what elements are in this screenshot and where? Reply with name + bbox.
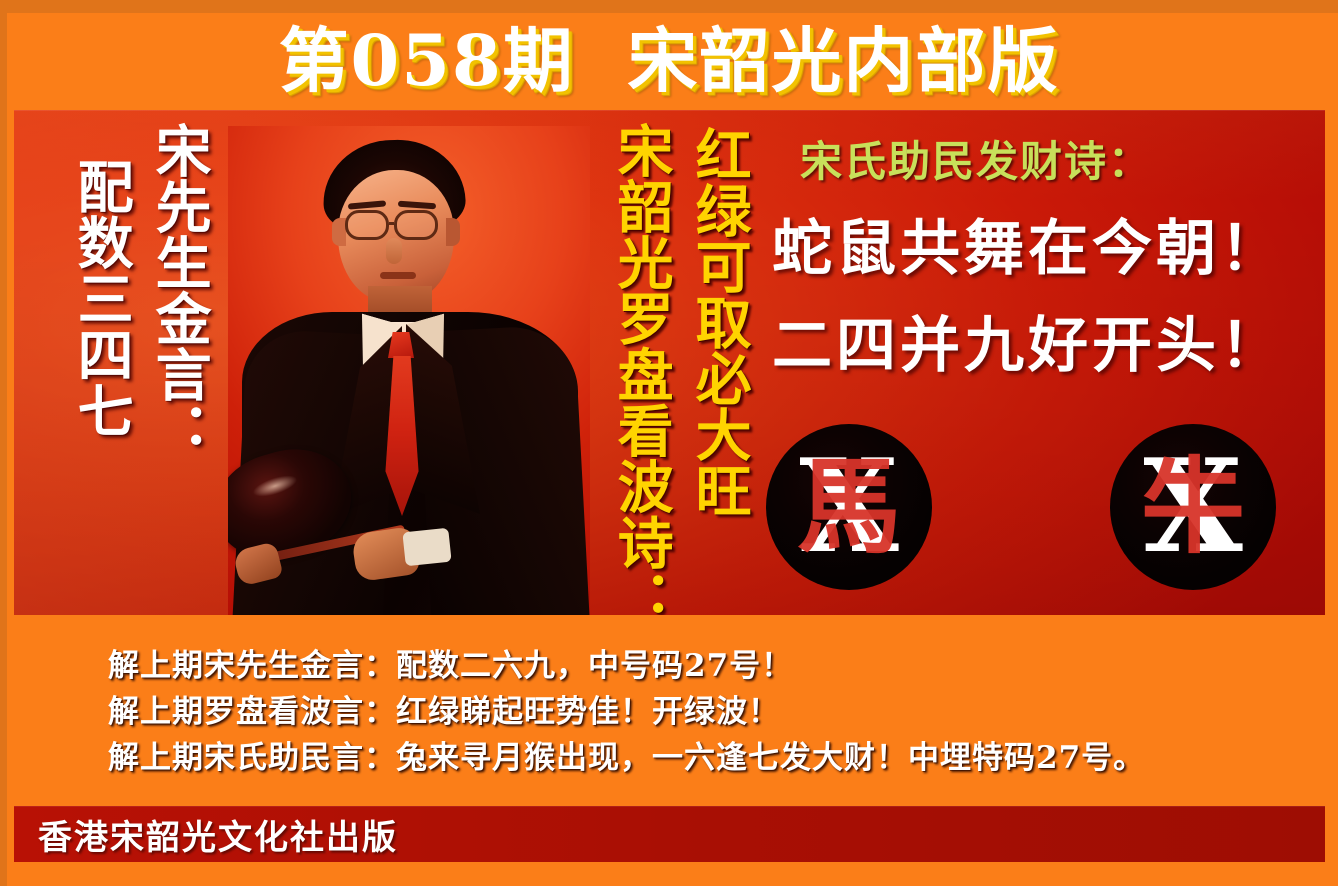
poem-heading: 宋氏助民发财诗： bbox=[800, 128, 1152, 189]
zodiac-front-glyph-horse: 馬 bbox=[766, 455, 932, 559]
notes-section: 解上期宋先生金言：配数二六九，中号码27号！ 解上期罗盘看波言：红绿睇起旺势佳！… bbox=[0, 624, 1338, 796]
ear-right bbox=[446, 218, 460, 246]
vertical-text-luopan-kanbo-shi: 宋韶光罗盘看波诗： bbox=[612, 122, 669, 615]
note-line-3: 解上期宋氏助民言：兔来寻月猴出现，一六逢七发大财！中埋特码27号。 bbox=[108, 732, 1145, 777]
issue-title: 第058期 宋韶光内部版 bbox=[279, 26, 1060, 96]
note-line-2: 解上期罗盘看波言：红绿睇起旺势佳！开绿波！ bbox=[108, 686, 780, 731]
master-photo bbox=[228, 126, 590, 615]
glasses-bridge bbox=[389, 222, 394, 225]
zodiac-badge-ox: X 牛 bbox=[1110, 424, 1276, 590]
vertical-text-peishu: 配数三四七 bbox=[72, 158, 129, 438]
glasses-right-lens bbox=[394, 210, 438, 240]
glasses-left-lens bbox=[345, 210, 389, 240]
shirt-cuff bbox=[402, 528, 451, 567]
vertical-text-songxiansheng-jinyan: 宋先生金言： bbox=[150, 122, 207, 458]
ear-left bbox=[332, 218, 346, 246]
main-red-panel: 宋先生金言： 配数三四七 宋韶光罗盘看波诗： 红绿可取必大旺 宋氏助民发财诗： … bbox=[14, 110, 1325, 615]
mouth bbox=[380, 272, 416, 279]
zodiac-front-glyph-ox: 牛 bbox=[1110, 455, 1276, 559]
poem-line-1: 蛇鼠共舞在今朝！ bbox=[772, 200, 1284, 287]
publisher-text: 香港宋韶光文化社出版 bbox=[38, 810, 398, 859]
title-bar: 第058期 宋韶光内部版 bbox=[0, 12, 1338, 110]
publisher-bar: 香港宋韶光文化社出版 bbox=[14, 806, 1325, 862]
poster-root: 第058期 宋韶光内部版 bbox=[0, 0, 1338, 886]
nose bbox=[386, 238, 402, 264]
poem-line-2: 二四并九好开头！ bbox=[772, 297, 1284, 384]
vertical-text-honglv-kequ: 红绿可取必大旺 bbox=[690, 126, 747, 518]
note-line-1: 解上期宋先生金言：配数二六九，中号码27号！ bbox=[108, 640, 793, 685]
zodiac-badge-horse: X 馬 bbox=[766, 424, 932, 590]
